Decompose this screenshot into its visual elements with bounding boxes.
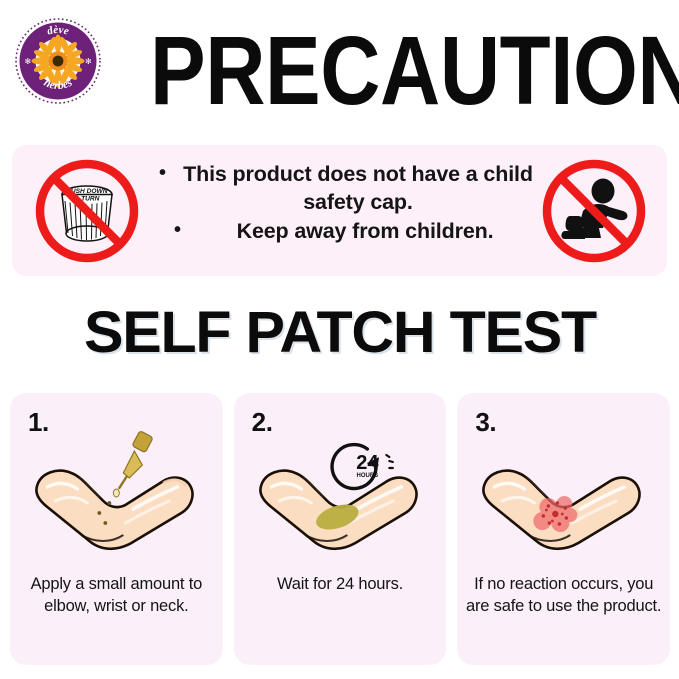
precaution-item: • This product does not have a child saf… — [152, 161, 542, 216]
svg-text:24: 24 — [356, 452, 379, 474]
bullet-icon: • — [159, 161, 166, 187]
no-children-crawling-baby-icon — [537, 154, 651, 268]
section-title: SELF PATCH TEST — [0, 299, 679, 366]
svg-text:✻: ✻ — [25, 57, 32, 66]
elbow-with-24-hours-clock-icon: 24 HOURS — [234, 431, 447, 569]
svg-text:HOURS: HOURS — [356, 473, 378, 479]
no-child-safety-cap-icon: PUSH DOWN & TURN — [30, 154, 144, 268]
step-caption: If no reaction occurs, you are safe to u… — [465, 574, 662, 618]
patch-test-steps: 1. — [10, 393, 670, 665]
precaution-panel: PUSH DOWN & TURN • This product does not… — [12, 145, 667, 276]
elbow-with-dropper-icon — [10, 431, 223, 569]
page-title: PRECAUTION — [150, 16, 570, 126]
precaution-list: • This product does not have a child saf… — [152, 161, 542, 248]
section-title-text: SELF PATCH TEST — [84, 299, 596, 366]
step-card-1: 1. — [10, 393, 223, 665]
precaution-item-text: Keep away from children. — [152, 218, 542, 246]
deve-herbes-flower-badge-icon: dève herbes ✻ ✻ — [14, 17, 102, 105]
elbow-with-rash-reaction-icon — [457, 431, 670, 569]
svg-text:✻: ✻ — [85, 57, 92, 66]
step-caption: Wait for 24 hours. — [242, 574, 439, 596]
precaution-item: • Keep away from children. — [152, 218, 542, 246]
step-card-2: 2. — [234, 393, 447, 665]
step-card-3: 3. — [457, 393, 670, 665]
step-caption: Apply a small amount to elbow, wrist or … — [18, 574, 215, 618]
precaution-item-text: This product does not have a child safet… — [152, 161, 542, 216]
dropper — [113, 431, 153, 497]
page-header: dève herbes ✻ ✻ PRECAUTION — [0, 0, 679, 136]
bullet-icon: • — [174, 218, 181, 244]
page-title-text: PRECAUTION — [150, 26, 679, 115]
